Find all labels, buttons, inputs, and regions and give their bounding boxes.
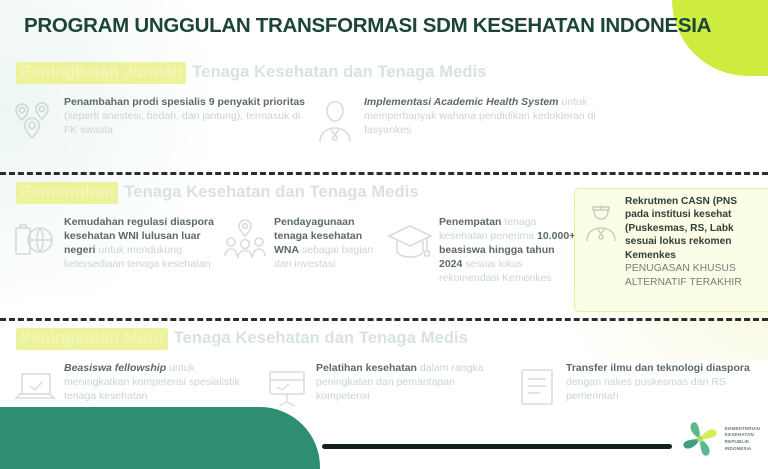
kemenkes-logo: KEMENTERIAN KESEHATAN REPUBLIK INDONESIA xyxy=(678,417,760,461)
presentation-board-icon xyxy=(260,360,314,414)
list-item-bold: Penambahan prodi spesialis 9 penyakit pr… xyxy=(64,96,305,108)
section-peningkatan-jumlah: Peningkatan Jumlah Tenaga Kesehatan dan … xyxy=(0,62,768,148)
teal-corner-shape xyxy=(0,407,320,469)
section-header-highlight: Pemenuhan xyxy=(16,182,118,204)
list-item-text: Penempatan tenaga kesehatan penerima 10.… xyxy=(439,212,578,286)
list-item: Kemudahan regulasi diaspora kesehatan WN… xyxy=(8,212,218,286)
list-item: Implementasi Academic Health System untu… xyxy=(308,92,608,148)
logo-line-2: KESEHATAN xyxy=(725,432,754,437)
callout-line-7: ALTERNATIF TERAKHIR xyxy=(625,277,742,288)
item-row: Penambahan prodi spesialis 9 penyakit pr… xyxy=(0,92,768,148)
section-header-rest: Tenaga Kesehatan dan Tenaga Medis xyxy=(124,183,418,202)
section-peningkatan-mutu: Peningkatan Mutu Tenaga Kesehatan dan Te… xyxy=(0,328,768,414)
list-item: Penambahan prodi spesialis 9 penyakit pr… xyxy=(8,92,308,148)
list-item: Pendayagunaan tenaga kesehatan WNA sebag… xyxy=(218,212,383,286)
nurse-icon xyxy=(581,197,621,243)
section-header-highlight: Peningkatan Mutu xyxy=(16,328,168,350)
laptop-icon xyxy=(8,360,62,414)
list-item-rest: dengan nakes puskesmas dan RS pemerintah xyxy=(566,376,726,402)
logo-line-3: REPUBLIK xyxy=(725,439,750,444)
suitcase-globe-icon xyxy=(8,214,62,268)
list-item: Penempatan tenaga kesehatan penerima 10.… xyxy=(383,212,578,286)
callout-line-2: pada institusi kesehat xyxy=(625,209,731,220)
list-item-text: Penambahan prodi spesialis 9 penyakit pr… xyxy=(64,92,308,138)
section-header: Peningkatan Mutu Tenaga Kesehatan dan Te… xyxy=(0,328,768,350)
section-header-rest: Tenaga Kesehatan dan Tenaga Medis xyxy=(192,63,486,82)
list-item: Transfer ilmu dan teknologi diaspora den… xyxy=(510,358,760,414)
callout-line-6: PENUGASAN KHUSUS xyxy=(625,263,736,274)
list-item: Beasiswa fellowship untuk meningkatkan k… xyxy=(8,358,260,414)
list-item-rest: (seperti anestesi, bedah, dan jantung), … xyxy=(64,110,300,136)
bottom-rule xyxy=(322,444,672,449)
list-item-bold: Penempatan xyxy=(439,216,501,228)
list-item-bold: Beasiswa fellowship xyxy=(64,362,166,374)
page-title: PROGRAM UNGGULAN TRANSFORMASI SDM KESEHA… xyxy=(24,14,711,38)
section-header: Peningkatan Jumlah Tenaga Kesehatan dan … xyxy=(0,62,768,84)
graduation-cap-icon xyxy=(383,214,437,268)
doctor-person-icon xyxy=(308,94,362,148)
section-divider xyxy=(0,318,768,321)
logo-line-4: INDONESIA xyxy=(725,446,752,451)
list-item-bold: Pelatihan kesehatan xyxy=(316,362,417,374)
list-item-text: Implementasi Academic Health System untu… xyxy=(364,92,608,138)
list-item-bold: Transfer ilmu dan teknologi diaspora xyxy=(566,362,750,374)
map-pins-icon xyxy=(8,94,62,148)
callout-line-4: sesuai lokus rekomen xyxy=(625,236,731,247)
list-item-bold: Implementasi Academic Health System xyxy=(364,96,559,108)
section-divider xyxy=(0,172,768,175)
list-item-text: Pendayagunaan tenaga kesehatan WNA sebag… xyxy=(274,212,383,272)
list-item-text: Beasiswa fellowship untuk meningkatkan k… xyxy=(64,358,260,404)
callout-text: Rekrutmen CASN (PNS pada institusi keseh… xyxy=(625,195,742,289)
list-item-text: Pelatihan kesehatan dalam rangka peningk… xyxy=(316,358,510,404)
callout-rekrutmen-casn: Rekrutmen CASN (PNS pada institusi keseh… xyxy=(574,188,768,312)
section-header-highlight: Peningkatan Jumlah xyxy=(16,62,186,84)
document-lines-icon xyxy=(510,360,564,414)
callout-line-3: (Puskesmas, RS, Labk xyxy=(625,223,734,234)
people-pin-icon xyxy=(218,214,272,268)
pinwheel-logo-icon xyxy=(678,417,722,461)
list-item: Pelatihan kesehatan dalam rangka peningk… xyxy=(260,358,510,414)
logo-line-1: KEMENTERIAN xyxy=(725,426,760,431)
section-header-rest: Tenaga Kesehatan dan Tenaga Medis xyxy=(174,329,468,348)
list-item-text: Transfer ilmu dan teknologi diaspora den… xyxy=(566,358,760,404)
list-item-text: Kemudahan regulasi diaspora kesehatan WN… xyxy=(64,212,218,272)
item-row: Beasiswa fellowship untuk meningkatkan k… xyxy=(0,358,768,414)
logo-text: KEMENTERIAN KESEHATAN REPUBLIK INDONESIA xyxy=(725,426,760,453)
callout-line-1: Rekrutmen CASN (PNS xyxy=(625,196,737,207)
callout-line-5: Kemenkes xyxy=(625,250,676,261)
